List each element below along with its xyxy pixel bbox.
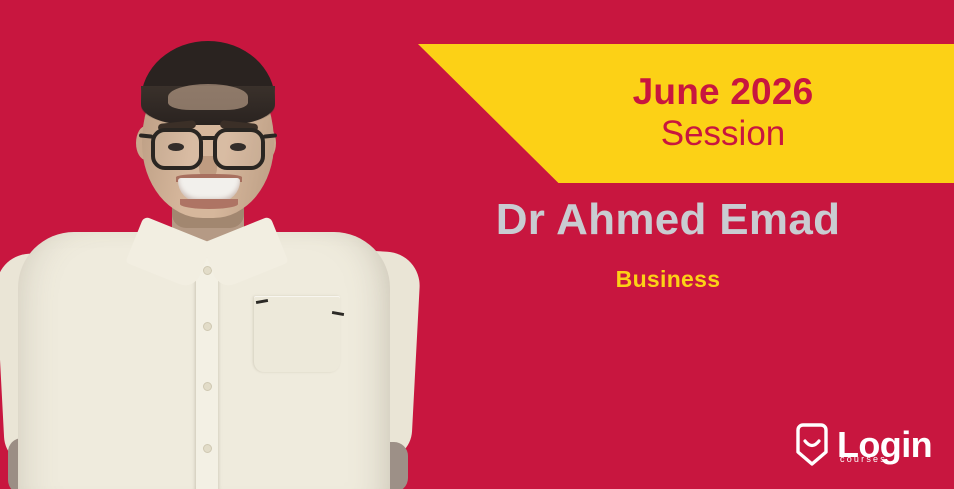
shirt-button (203, 382, 212, 391)
logo-tagline: courses (840, 455, 887, 464)
login-courses-logo[interactable]: Login courses (795, 423, 932, 467)
glasses-bridge (201, 136, 217, 140)
promo-banner: June 2026 Session Dr Ahmed Emad Business… (0, 0, 954, 489)
session-month-year: June 2026 (633, 73, 814, 111)
glasses-lens-left (151, 128, 203, 170)
speaker-name: Dr Ahmed Emad (418, 196, 918, 244)
speaker-photo (0, 0, 430, 489)
shirt-button (203, 322, 212, 331)
speaker-topic: Business (418, 266, 918, 293)
lower-lip (180, 199, 238, 209)
forehead (168, 84, 248, 110)
session-label: Session (661, 113, 786, 154)
shirt-pocket (254, 296, 340, 372)
logo-wordmark: Login courses (837, 427, 932, 463)
shirt-button (203, 444, 212, 453)
glasses-lens-right (213, 128, 265, 170)
shield-check-icon (795, 423, 829, 467)
session-flag-text: June 2026 Session (418, 44, 954, 183)
speaker-details: Dr Ahmed Emad Business (418, 196, 918, 293)
